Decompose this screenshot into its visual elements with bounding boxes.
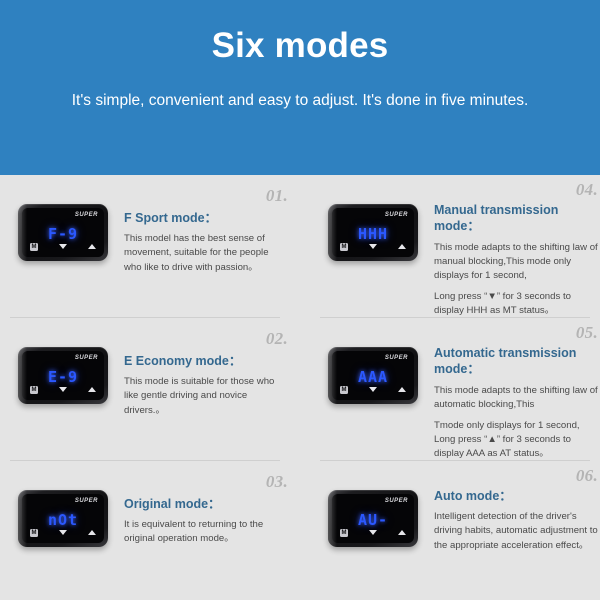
mode-text-01: 01. F Sport mode： This model has the bes… — [124, 188, 288, 275]
device-brand-label: SUPER — [385, 498, 408, 504]
mode-number-badge: 01. — [266, 186, 288, 206]
down-arrow-icon[interactable] — [369, 530, 377, 535]
up-arrow-icon[interactable] — [88, 530, 96, 535]
up-arrow-icon[interactable] — [398, 387, 406, 392]
mode-card-06[interactable]: SUPER AU- M 06. Auto mode： Intelligent d… — [312, 461, 598, 591]
mode-title: Automatic transmission mode： — [434, 345, 598, 378]
device-brand-label: SUPER — [385, 212, 408, 218]
mode-button-m[interactable]: M — [340, 386, 348, 394]
throttle-controller-device: SUPER nOt M — [18, 490, 108, 547]
device-button-row: M — [337, 527, 409, 538]
device-button-row: M — [27, 241, 99, 252]
throttle-controller-device: SUPER AAA M — [328, 347, 418, 404]
device-brand-label: SUPER — [75, 355, 98, 361]
page-header: Six modes It's simple, convenient and ea… — [0, 0, 600, 175]
modes-grid: SUPER F-9 M 01. F Sport mode： This model… — [0, 175, 600, 600]
device-brand-label: SUPER — [385, 355, 408, 361]
mode-button-m[interactable]: M — [30, 529, 38, 537]
mode-number-badge: 04. — [576, 180, 598, 200]
up-arrow-icon[interactable] — [398, 530, 406, 535]
device-illustration-04: SUPER HHH M — [312, 188, 434, 261]
device-illustration-01: SUPER F-9 M — [2, 188, 124, 261]
mode-description-paragraph: This mode is suitable for those who like… — [124, 375, 288, 418]
device-screen: SUPER nOt M — [22, 494, 104, 543]
mode-description: This mode adapts to the shifting law of … — [434, 384, 598, 462]
down-arrow-icon[interactable] — [369, 244, 377, 249]
device-illustration-02: SUPER E-9 M — [2, 331, 124, 404]
device-button-row: M — [27, 384, 99, 395]
mode-title: E Economy mode： — [124, 353, 288, 369]
mode-title: Manual transmission mode： — [434, 202, 598, 235]
mode-description: It is equivalent to returning to the ori… — [124, 518, 288, 546]
modes-column-left: SUPER F-9 M 01. F Sport mode： This model… — [0, 175, 300, 600]
mode-title: Auto mode： — [434, 488, 598, 504]
device-illustration-06: SUPER AU- M — [312, 474, 434, 547]
mode-text-03: 03. Original mode： It is equivalent to r… — [124, 474, 288, 547]
mode-number-badge: 05. — [576, 323, 598, 343]
mode-description-paragraph: It is equivalent to returning to the ori… — [124, 518, 288, 546]
device-screen: SUPER E-9 M — [22, 351, 104, 400]
device-screen: SUPER F-9 M — [22, 208, 104, 257]
mode-description: This model has the best sense of movemen… — [124, 232, 288, 275]
down-arrow-icon[interactable] — [369, 387, 377, 392]
mode-card-03[interactable]: SUPER nOt M 03. Original mode： It is equ… — [2, 461, 288, 591]
mode-button-m[interactable]: M — [30, 243, 38, 251]
device-screen: SUPER HHH M — [332, 208, 414, 257]
device-button-row: M — [337, 241, 409, 252]
mode-description: Intelligent detection of the driver's dr… — [434, 510, 598, 553]
page-title: Six modes — [56, 26, 544, 66]
throttle-controller-device: SUPER AU- M — [328, 490, 418, 547]
mode-description-paragraph: Long press “▼” for 3 seconds to display … — [434, 290, 598, 318]
mode-button-m[interactable]: M — [340, 243, 348, 251]
mode-description-paragraph: Tmode only displays for 1 second, Long p… — [434, 419, 598, 462]
down-arrow-icon[interactable] — [59, 387, 67, 392]
up-arrow-icon[interactable] — [398, 244, 406, 249]
page-subtitle: It's simple, convenient and easy to adju… — [56, 90, 544, 112]
mode-text-06: 06. Auto mode： Intelligent detection of … — [434, 474, 598, 553]
mode-title: Original mode： — [124, 496, 288, 512]
mode-description-paragraph: This mode adapts to the shifting law of … — [434, 241, 598, 284]
mode-description: This mode is suitable for those who like… — [124, 375, 288, 418]
device-illustration-05: SUPER AAA M — [312, 331, 434, 404]
mode-text-04: 04. Manual transmission mode： This mode … — [434, 188, 598, 318]
throttle-controller-device: SUPER F-9 M — [18, 204, 108, 261]
mode-text-05: 05. Automatic transmission mode： This mo… — [434, 331, 598, 461]
device-screen: SUPER AAA M — [332, 351, 414, 400]
mode-text-02: 02. E Economy mode： This mode is suitabl… — [124, 331, 288, 418]
device-brand-label: SUPER — [75, 212, 98, 218]
down-arrow-icon[interactable] — [59, 244, 67, 249]
throttle-controller-device: SUPER HHH M — [328, 204, 418, 261]
mode-number-badge: 03. — [266, 472, 288, 492]
mode-description-paragraph: This model has the best sense of movemen… — [124, 232, 288, 275]
mode-card-01[interactable]: SUPER F-9 M 01. F Sport mode： This model… — [2, 175, 288, 318]
mode-card-04[interactable]: SUPER HHH M 04. Manual transmission mode… — [312, 175, 598, 318]
mode-card-02[interactable]: SUPER E-9 M 02. E Economy mode： This mod… — [2, 318, 288, 461]
device-brand-label: SUPER — [75, 498, 98, 504]
mode-description: This mode adapts to the shifting law of … — [434, 241, 598, 319]
mode-description-paragraph: This mode adapts to the shifting law of … — [434, 384, 598, 412]
mode-number-badge: 06. — [576, 466, 598, 486]
modes-column-right: SUPER HHH M 04. Manual transmission mode… — [300, 175, 600, 600]
throttle-controller-device: SUPER E-9 M — [18, 347, 108, 404]
up-arrow-icon[interactable] — [88, 387, 96, 392]
down-arrow-icon[interactable] — [59, 530, 67, 535]
device-illustration-03: SUPER nOt M — [2, 474, 124, 547]
mode-title: F Sport mode： — [124, 210, 288, 226]
mode-button-m[interactable]: M — [340, 529, 348, 537]
device-screen: SUPER AU- M — [332, 494, 414, 543]
mode-card-05[interactable]: SUPER AAA M 05. Automatic transmission m… — [312, 318, 598, 461]
device-button-row: M — [27, 527, 99, 538]
device-button-row: M — [337, 384, 409, 395]
up-arrow-icon[interactable] — [88, 244, 96, 249]
mode-number-badge: 02. — [266, 329, 288, 349]
mode-description-paragraph: Intelligent detection of the driver's dr… — [434, 510, 598, 553]
mode-button-m[interactable]: M — [30, 386, 38, 394]
